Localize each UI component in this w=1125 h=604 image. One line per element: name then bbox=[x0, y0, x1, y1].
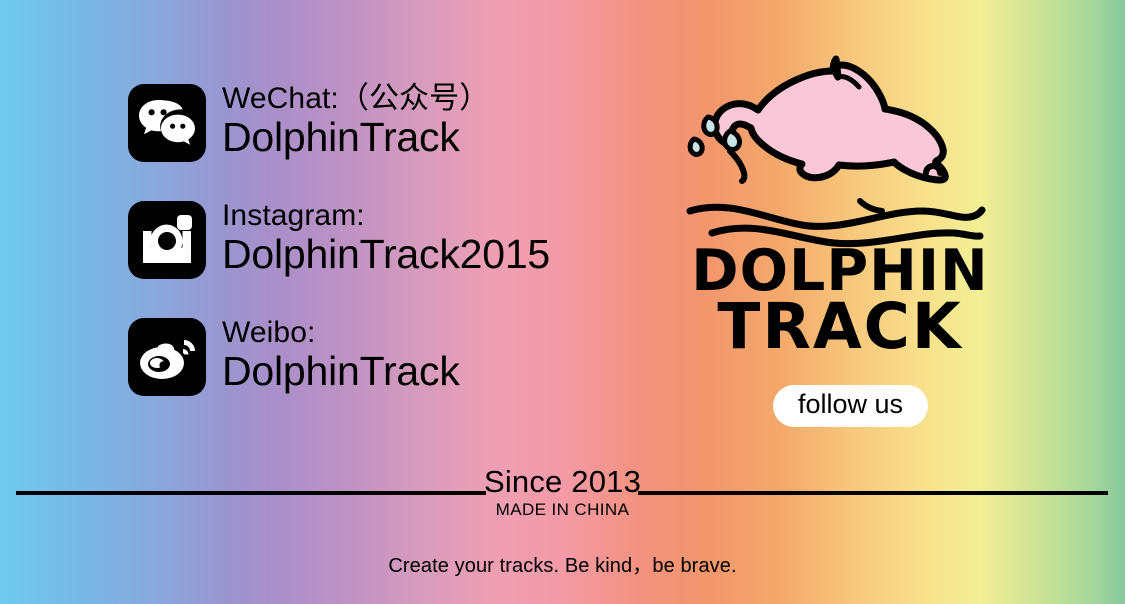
social-row-weibo[interactable]: Weibo: DolphinTrack bbox=[128, 318, 688, 396]
weibo-text: Weibo: DolphinTrack bbox=[222, 318, 460, 395]
logo-wordmark: DOLPHIN TRACK bbox=[660, 245, 1020, 357]
dolphin-logo-block: DOLPHIN TRACK follow us bbox=[660, 55, 1030, 430]
instagram-icon[interactable] bbox=[128, 201, 206, 279]
wechat-icon[interactable] bbox=[128, 84, 206, 162]
dolphin-illustration bbox=[660, 55, 1020, 250]
social-row-wechat[interactable]: WeChat:（公众号） DolphinTrack bbox=[128, 84, 688, 162]
wechat-handle: DolphinTrack bbox=[222, 115, 489, 161]
wechat-text: WeChat:（公众号） DolphinTrack bbox=[222, 84, 489, 161]
social-list: WeChat:（公众号） DolphinTrack Instagram bbox=[128, 84, 688, 396]
wordmark-line-track: TRACK bbox=[660, 298, 1020, 357]
instagram-text: Instagram: DolphinTrack2015 bbox=[222, 201, 550, 278]
instagram-label: Instagram: bbox=[222, 201, 550, 232]
instagram-handle: DolphinTrack2015 bbox=[222, 232, 550, 278]
social-contact-card: WeChat:（公众号） DolphinTrack Instagram bbox=[0, 0, 1125, 604]
tagline: Create your tracks. Be kind，be brave. bbox=[0, 549, 1125, 578]
since-year: Since 2013 bbox=[0, 466, 1125, 499]
weibo-icon[interactable] bbox=[128, 318, 206, 396]
social-row-instagram[interactable]: Instagram: DolphinTrack2015 bbox=[128, 201, 688, 279]
weibo-label: Weibo: bbox=[222, 318, 460, 349]
wechat-label: WeChat:（公众号） bbox=[222, 84, 489, 115]
since-block: Since 2013 MADE IN CHINA bbox=[0, 466, 1125, 519]
follow-us-badge[interactable]: follow us bbox=[773, 385, 928, 427]
weibo-handle: DolphinTrack bbox=[222, 349, 460, 395]
made-in-china: MADE IN CHINA bbox=[0, 500, 1125, 520]
